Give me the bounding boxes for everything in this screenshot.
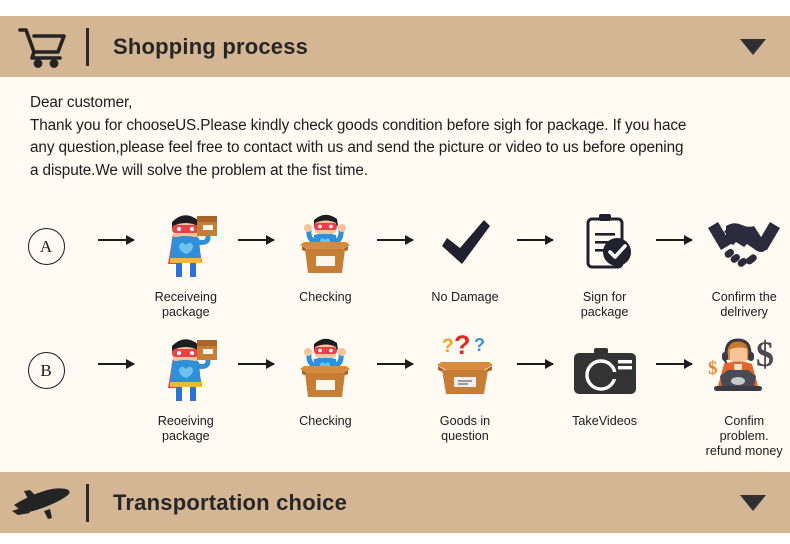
svg-text:$: $: [756, 334, 774, 374]
arrow-icon: [511, 206, 559, 241]
intro-line-1: Dear customer,: [30, 92, 760, 115]
arrow-icon: [371, 330, 419, 365]
flow-step: Confirm the delrivery: [698, 206, 790, 320]
delivery-hero-with-box-icon: [153, 206, 219, 278]
section-title-shopping: Shopping process: [113, 34, 716, 60]
chevron-down-icon-transport[interactable]: [716, 495, 790, 511]
flow-marker-b: B: [28, 352, 65, 389]
person-in-open-box-icon: [292, 330, 358, 402]
camera-icon: [568, 330, 642, 402]
flow-step: No Damage: [419, 206, 511, 305]
arrow-icon: [650, 330, 698, 365]
arrow-icon: [92, 206, 140, 241]
flow-step: Sign for package: [559, 206, 651, 320]
arrow-icon: [650, 206, 698, 241]
flow-step: TakeVideos: [559, 330, 651, 429]
header-divider: [86, 484, 89, 522]
delivery-hero-with-box-icon: [153, 330, 219, 402]
svg-text:?: ?: [474, 335, 485, 355]
flow-step: Checking: [280, 206, 372, 305]
step-label: Receiveing package: [140, 290, 232, 320]
flow-step: ? ? ? Goods in question: [419, 330, 511, 444]
arrow-icon: [232, 206, 280, 241]
section-header-shopping-process[interactable]: Shopping process: [0, 16, 790, 77]
airplane-icon: [0, 481, 86, 525]
flow-step: Checking: [280, 330, 372, 429]
promo-banner: Shopping process Dear customer, Thank yo…: [0, 0, 790, 544]
step-label: Confirm the delrivery: [698, 290, 790, 320]
flow-marker-a-cell: A: [0, 206, 92, 265]
intro-line-3: any question,please feel free to contact…: [30, 137, 760, 160]
flow-marker-a: A: [28, 228, 65, 265]
process-flow-row-b: B: [0, 330, 790, 459]
handshake-icon: [704, 206, 784, 278]
person-in-open-box-icon: [292, 206, 358, 278]
section-header-transportation-choice[interactable]: Transportation choice: [0, 472, 790, 533]
step-label: Confim problem. refund money: [698, 414, 790, 459]
flow-step: $ $: [698, 330, 790, 459]
step-label: TakeVideos: [572, 414, 637, 429]
intro-line-4: a dispute.We will solve the problem at t…: [30, 160, 760, 183]
step-label: Reoeiving package: [140, 414, 232, 444]
arrow-icon: [232, 330, 280, 365]
support-agent-money-icon: $ $: [702, 330, 786, 402]
step-label: Checking: [299, 290, 352, 305]
section-title-transport: Transportation choice: [113, 490, 716, 516]
intro-paragraph: Dear customer, Thank you for chooseUS.Pl…: [30, 92, 760, 182]
checkmark-icon: [432, 206, 498, 278]
step-label: No Damage: [431, 290, 498, 305]
bottom-margin: [0, 536, 790, 544]
chevron-down-icon-shopping[interactable]: [716, 39, 790, 55]
step-label: Goods in question: [419, 414, 511, 444]
arrow-icon: [371, 206, 419, 241]
box-with-question-marks-icon: ? ? ?: [430, 330, 500, 402]
clipboard-check-icon: [572, 206, 638, 278]
flow-marker-b-cell: B: [0, 330, 92, 389]
svg-text:?: ?: [442, 336, 454, 357]
arrow-icon: [92, 330, 140, 365]
flow-step: Receiveing package: [140, 206, 232, 320]
header-divider: [86, 28, 89, 66]
intro-line-2: Thank you for chooseUS.Please kindly che…: [30, 115, 760, 138]
flow-step: Reoeiving package: [140, 330, 232, 444]
shopping-cart-icon: [0, 25, 86, 69]
process-flow-row-a: A: [0, 206, 790, 320]
step-label: Sign for package: [559, 290, 651, 320]
svg-text:$: $: [708, 358, 718, 379]
step-label: Checking: [299, 414, 352, 429]
top-margin: [0, 0, 790, 16]
arrow-icon: [511, 330, 559, 365]
svg-text:?: ?: [454, 332, 471, 360]
